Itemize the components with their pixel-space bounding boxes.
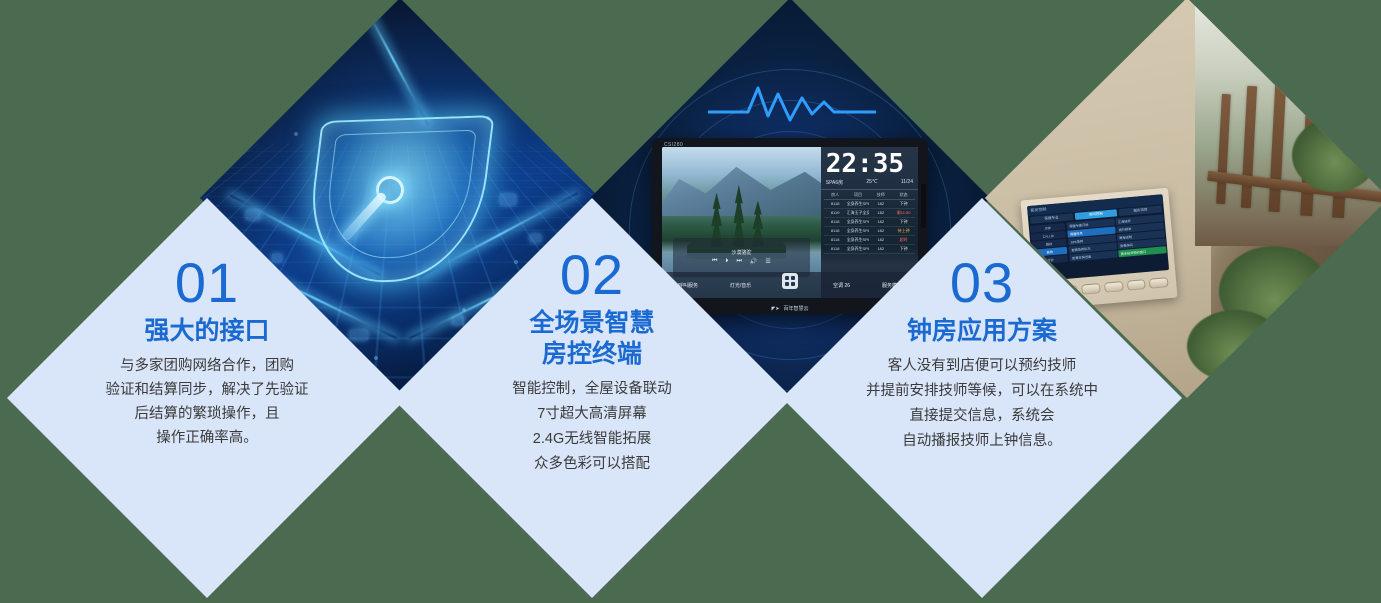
cell-status: 剩11:50 (892, 210, 915, 216)
desc-line: 智能控制，全屋设备联动 (442, 377, 742, 402)
card-title-line: 全场景智慧 (442, 308, 742, 339)
circuit-chip (272, 254, 282, 262)
play-icon[interactable]: ⏵ (725, 258, 728, 265)
cell: 全身养生SPA (847, 246, 870, 252)
media-track-title: 沙漠骆驼 (731, 249, 751, 256)
panel-key[interactable] (1149, 277, 1168, 289)
panel-list-right[interactable]: 汇海技师 排行榜单 教程说明 查看房间 更多技师预约窗口 (1116, 214, 1168, 273)
temperature-label: 25℃ (866, 179, 877, 186)
desc-line: 操作正确率高。 (37, 426, 377, 450)
cell: 8118 (824, 228, 847, 234)
card-title: 全场景智慧 房控终端 (442, 308, 742, 370)
col-header: 房人 (824, 192, 847, 198)
card-description: 与多家团购网络合作，团购 验证和结算同步，解决了先验证 后结算的繁琐操作，且 操… (37, 354, 377, 450)
desc-line: 后结算的繁琐操作，且 (37, 402, 377, 426)
table-row: 8118 全身养生SPA 182 下钟 (824, 200, 915, 209)
infographic-stage: CSI280 沙漠骆驼 ⏮ ⏵ (0, 0, 1381, 603)
cell: 全身养生SPA (847, 219, 870, 225)
cell: 全身养生SPA (847, 201, 870, 207)
clock-time: 22:35 (826, 151, 913, 177)
brand-logo-icon: ◤➤ (771, 306, 779, 312)
card-description: 智能控制，全屋设备联动 7寸超大高清屏幕 2.4G无线智能拓展 众多色彩可以搭配 (442, 377, 742, 477)
desc-line: 直接提交信息，系统会 (809, 404, 1155, 429)
room-label: SPA6房 (826, 179, 843, 186)
brand-name: 百年智慧云 (784, 305, 809, 312)
cell: 全身养生SPA (847, 237, 870, 243)
cell: 8118 (824, 201, 847, 207)
panel-key[interactable] (1104, 281, 1123, 293)
panel-key[interactable] (1127, 279, 1146, 291)
mountain-shape (662, 156, 821, 216)
desc-line: 并提前安排技师等候，可以在系统中 (809, 379, 1155, 404)
panel-key[interactable] (1081, 283, 1100, 295)
col-header: 状态 (892, 192, 915, 198)
cell-status: 待上钟 (892, 228, 915, 234)
cell: 汇海玉子全身精护 (847, 210, 870, 216)
tablet-side-button[interactable] (921, 184, 926, 228)
cell: 下钟 (892, 201, 915, 207)
cell: 8118 (824, 237, 847, 243)
tablet-screen: 沙漠骆驼 ⏮ ⏵ ⏭ 🔊 ☰ 22:35 (662, 147, 918, 298)
playlist-icon[interactable]: ☰ (765, 258, 770, 265)
circuit-chip (350, 330, 368, 340)
cell: 8118 (824, 219, 847, 225)
cell-status: 超时 (892, 237, 915, 243)
card-title: 强大的接口 (37, 316, 377, 347)
bottom-button[interactable]: 空调 26 (833, 282, 850, 289)
desc-line: 与多家团购网络合作，团购 (37, 354, 377, 378)
col-header: 项目 (847, 192, 870, 198)
table-row: 8118 全身养生SPA 182 下钟 (824, 218, 915, 227)
cell: 8119 (824, 210, 847, 216)
desc-line: 众多色彩可以搭配 (442, 452, 742, 477)
service-table-header: 房人 项目 技师 状态 (824, 192, 915, 200)
cell: 182 (869, 201, 892, 207)
table-row: 8119 汇海玉子全身精护 182 剩11:50 (824, 209, 915, 218)
media-player-bar[interactable]: 沙漠骆驼 ⏮ ⏵ ⏭ 🔊 ☰ (673, 238, 810, 277)
clock-meta: SPA6房 25℃ 11/24 (826, 179, 913, 186)
cell: 182 (869, 210, 892, 216)
volume-icon[interactable]: 🔊 (750, 258, 757, 265)
media-controls[interactable]: ⏮ ⏵ ⏭ 🔊 ☰ (712, 258, 771, 265)
desc-line: 客人没有到店便可以预约技师 (809, 354, 1155, 379)
cell: 182 (869, 228, 892, 234)
card-title: 钟房应用方案 (809, 316, 1155, 347)
cell: 下钟 (892, 219, 915, 225)
clock-widget: 22:35 SPA6房 25℃ 11/24 (821, 147, 918, 190)
cell: 182 (869, 237, 892, 243)
home-grid-button[interactable] (782, 273, 798, 289)
desc-line: 7寸超大高清屏幕 (442, 402, 742, 427)
desc-line: 2.4G无线智能拓展 (442, 427, 742, 452)
cell: 全身养生SPA (847, 228, 870, 234)
bottom-button[interactable]: 灯光/音乐 (730, 282, 751, 289)
col-header: 技师 (869, 192, 892, 198)
desc-line: 验证和结算同步，解决了先验证 (37, 378, 377, 402)
desc-line: 自动播报技师上钟信息。 (809, 429, 1155, 454)
circuit-chip (500, 194, 516, 205)
date-label: 11/24 (901, 179, 913, 186)
panel-list-left[interactable]: 保健专家开钟 保健任务 SPA技师 查看技师状况 查看空房进度 (1067, 219, 1119, 278)
cell: 182 (869, 246, 892, 252)
cell: 182 (869, 219, 892, 225)
next-icon[interactable]: ⏭ (736, 258, 741, 265)
table-row: 8118 全身养生SPA 182 待上钟 (824, 227, 915, 236)
cell: 下钟 (892, 246, 915, 252)
tablet-device: CSI280 沙漠骆驼 ⏮ ⏵ (652, 138, 928, 314)
card-description: 客人没有到店便可以预约技师 并提前安排技师等候，可以在系统中 直接提交信息，系统… (809, 354, 1155, 454)
table-row: 8118 全身养生SPA 182 超时 (824, 236, 915, 245)
cell: 8118 (824, 246, 847, 252)
heartbeat-pulse-icon (708, 80, 876, 124)
panel-list[interactable]: 保健专家开钟 保健任务 SPA技师 查看技师状况 查看空房进度 汇海技师 排行榜… (1066, 213, 1169, 278)
plant-foliage (1292, 118, 1378, 192)
plant-foliage (1187, 310, 1283, 382)
prev-icon[interactable]: ⏮ (712, 258, 717, 265)
circuit-chip (530, 234, 541, 242)
card-title-line: 房控终端 (442, 339, 742, 370)
table-row: 8118 全身养生SPA 182 下钟 (824, 245, 915, 254)
